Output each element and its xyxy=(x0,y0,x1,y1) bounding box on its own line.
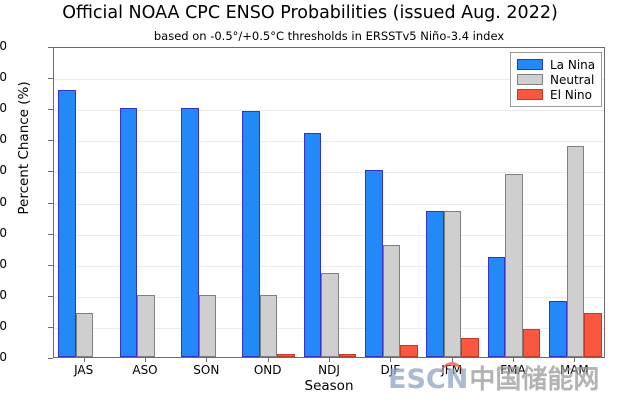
x-tick-mark xyxy=(84,358,85,362)
x-tick-mark xyxy=(206,358,207,362)
legend-label: La Nina xyxy=(550,58,595,72)
bar-jfm-neutral xyxy=(444,211,461,357)
chart-title: Official NOAA CPC ENSO Probabilities (is… xyxy=(0,3,620,23)
y-tick-label: 10 xyxy=(0,320,7,332)
bar-jas-la-nina xyxy=(58,90,75,357)
bar-ndj-la-nina xyxy=(304,133,321,357)
x-tick-mark xyxy=(390,358,391,362)
y-tick-label: 100 xyxy=(0,40,7,52)
watermark-latin-text: ESCN xyxy=(388,366,468,393)
watermark-chinese-label: 中国储能网 xyxy=(469,367,599,393)
bar-aso-neutral xyxy=(137,295,154,357)
bar-djf-neutral xyxy=(383,245,400,357)
bar-fma-neutral xyxy=(505,174,522,357)
bar-aso-la-nina xyxy=(120,108,137,357)
x-tick-mark xyxy=(574,358,575,362)
y-tick-label: 80 xyxy=(0,102,7,114)
bar-ond-la-nina xyxy=(242,111,259,357)
bar-djf-la-nina xyxy=(365,170,382,357)
bar-son-neutral xyxy=(199,295,216,357)
legend-label: El Nino xyxy=(550,88,592,102)
bar-jfm-el-nino xyxy=(461,338,478,357)
legend-label: Neutral xyxy=(550,73,594,87)
y-tick-label: 90 xyxy=(0,71,7,83)
x-tick-mark xyxy=(329,358,330,362)
x-tick-mark xyxy=(145,358,146,362)
y-tick-label: 60 xyxy=(0,164,7,176)
legend-item-el-nino[interactable]: El Nino xyxy=(517,87,595,102)
bar-mam-el-nino xyxy=(584,313,601,357)
legend-swatch-icon xyxy=(517,89,543,100)
y-tick-label: 50 xyxy=(0,196,7,208)
x-tick-label-aso: ASO xyxy=(115,363,175,377)
enso-probability-chart-figure: Official NOAA CPC ENSO Probabilities (is… xyxy=(0,0,620,400)
legend-item-la-nina[interactable]: La Nina xyxy=(517,57,595,72)
legend-item-neutral[interactable]: Neutral xyxy=(517,72,595,87)
bar-jas-neutral xyxy=(76,313,93,357)
bar-fma-el-nino xyxy=(523,329,540,357)
y-axis-label: Percent Chance (%) xyxy=(16,18,32,278)
bar-mam-neutral xyxy=(567,146,584,357)
legend-swatch-icon xyxy=(517,59,543,70)
bar-fma-la-nina xyxy=(488,257,505,357)
legend-swatch-icon xyxy=(517,74,543,85)
y-tick-label: 30 xyxy=(0,258,7,270)
x-tick-label-ndj: NDJ xyxy=(299,363,359,377)
x-tick-label-ond: OND xyxy=(238,363,298,377)
bar-ond-el-nino xyxy=(277,354,294,357)
y-tick-label: 40 xyxy=(0,227,7,239)
y-tick-label: 70 xyxy=(0,133,7,145)
watermark-arc-icon xyxy=(441,362,463,377)
bar-ndj-el-nino xyxy=(339,354,356,357)
bar-ndj-neutral xyxy=(321,273,338,357)
bar-djf-el-nino xyxy=(400,345,417,357)
chart-legend: La NinaNeutralEl Nino xyxy=(510,52,602,107)
bar-son-la-nina xyxy=(181,108,198,357)
y-tick-label: 0 xyxy=(0,351,7,363)
x-tick-mark xyxy=(268,358,269,362)
bar-ond-neutral xyxy=(260,295,277,357)
y-tick-mark xyxy=(48,358,53,359)
bar-jfm-la-nina xyxy=(426,211,443,357)
watermark: ESCN 中国储能网 xyxy=(388,366,599,393)
chart-subtitle: based on -0.5°/+0.5°C thresholds in ERSS… xyxy=(53,29,605,43)
x-tick-mark xyxy=(513,358,514,362)
bar-mam-la-nina xyxy=(549,301,566,357)
x-tick-label-son: SON xyxy=(176,363,236,377)
x-tick-label-jas: JAS xyxy=(54,363,114,377)
y-tick-label: 20 xyxy=(0,289,7,301)
